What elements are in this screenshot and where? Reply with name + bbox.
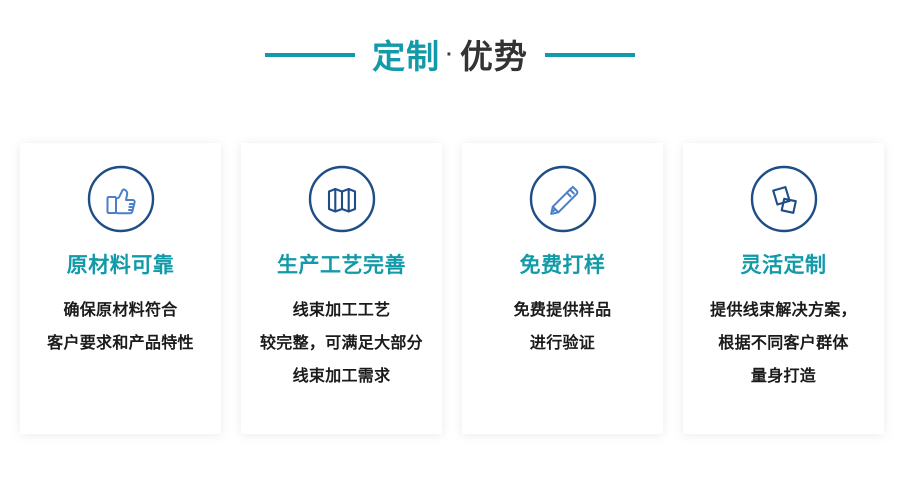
pencil-icon (528, 164, 598, 234)
title-separator-dot: · (446, 45, 454, 65)
card-title: 灵活定制 (741, 255, 827, 276)
card-title: 免费打样 (520, 255, 606, 276)
card-description-line: 根据不同客户群体 (689, 327, 878, 360)
section-header: 定制 · 优势 (0, 0, 900, 110)
card-description-line: 确保原材料符合 (26, 294, 215, 327)
feature-card-flexible-customization[interactable]: 灵活定制 提供线束解决方案， 根据不同客户群体 量身打造 (683, 143, 884, 434)
card-description-line: 较完整，可满足大部分 (247, 327, 436, 360)
feature-cards-row: 原材料可靠 确保原材料符合 客户要求和产品特性 生产工艺完善 线束加工工艺 较完… (20, 143, 884, 434)
card-description-line: 免费提供样品 (468, 294, 657, 327)
card-description-line: 量身打造 (689, 360, 878, 393)
page-title: 定制 · 优势 (372, 40, 528, 73)
card-description-line: 提供线束解决方案， (689, 294, 878, 327)
stacked-cards-icon (749, 164, 819, 234)
card-description: 线束加工工艺 较完整，可满足大部分 线束加工需求 (241, 294, 442, 393)
thumbs-up-icon (86, 164, 156, 234)
card-description-line: 客户要求和产品特性 (26, 327, 215, 360)
card-title: 生产工艺完善 (277, 255, 406, 276)
feature-card-raw-material[interactable]: 原材料可靠 确保原材料符合 客户要求和产品特性 (20, 143, 221, 434)
feature-card-free-sample[interactable]: 免费打样 免费提供样品 进行验证 (462, 143, 663, 434)
title-rule-left (265, 53, 355, 57)
card-description: 提供线束解决方案， 根据不同客户群体 量身打造 (683, 294, 884, 393)
title-secondary: 优势 (460, 40, 528, 73)
title-rule-right (545, 53, 635, 57)
feature-card-production-process[interactable]: 生产工艺完善 线束加工工艺 较完整，可满足大部分 线束加工需求 (241, 143, 442, 434)
card-description-line: 进行验证 (468, 327, 657, 360)
card-description-line: 线束加工需求 (247, 360, 436, 393)
folded-map-icon (307, 164, 377, 234)
card-title: 原材料可靠 (67, 255, 175, 276)
card-description: 确保原材料符合 客户要求和产品特性 (20, 294, 221, 360)
card-description: 免费提供样品 进行验证 (462, 294, 663, 360)
card-description-line: 线束加工工艺 (247, 294, 436, 327)
title-primary: 定制 (372, 40, 440, 73)
